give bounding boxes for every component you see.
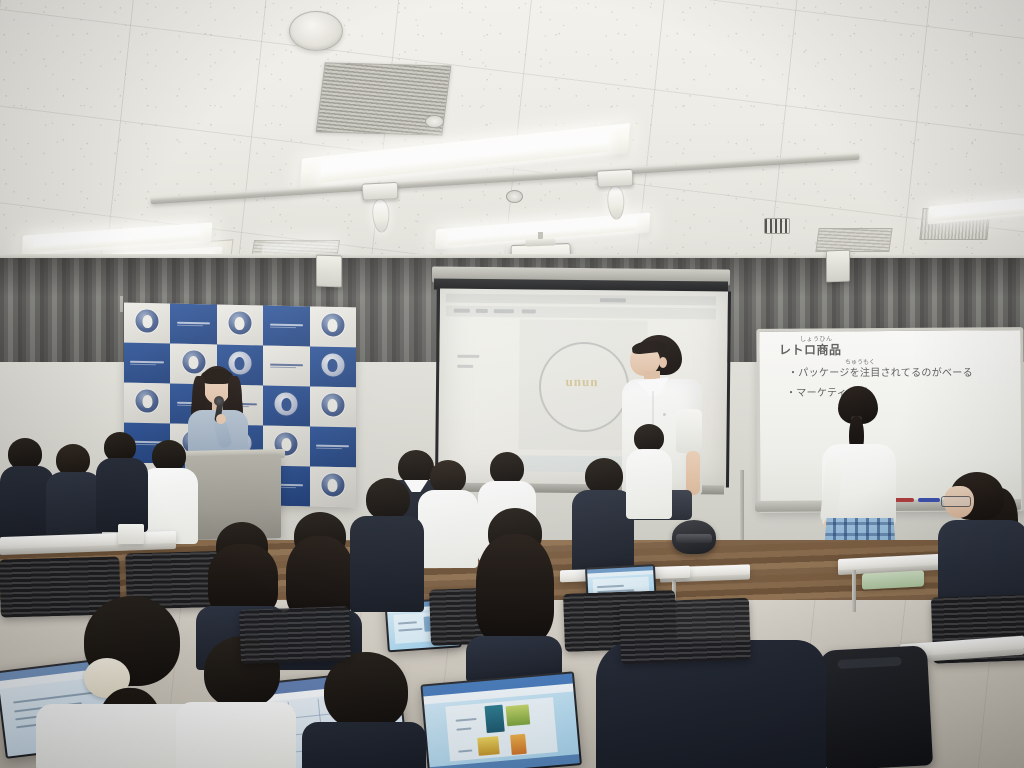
seated-student [350, 478, 424, 608]
banner-tile [124, 303, 170, 344]
wall-speaker-left [316, 255, 342, 288]
banner-tile [310, 386, 356, 427]
banner-tile [263, 345, 309, 386]
banner-tile [310, 426, 356, 467]
banner-tile [310, 346, 356, 387]
student-head [585, 458, 623, 494]
student-head [324, 652, 408, 730]
wall-speaker-right [826, 250, 850, 283]
seated-student [572, 458, 634, 568]
slide-toolbar-chip [522, 309, 536, 313]
seated-student [466, 508, 562, 668]
whiteboard-line-1: ・パッケージを注目されてるのがべーる [788, 364, 973, 379]
slide-logo-text: unun [539, 374, 625, 391]
standing-student-forearm [686, 451, 700, 495]
track-spotlight-2 [597, 169, 626, 220]
student-blazer [96, 458, 148, 532]
student-head [430, 460, 466, 494]
ceiling-speaker-icon [289, 11, 343, 51]
banner-tile [124, 343, 170, 384]
laptop [420, 672, 577, 768]
seated-student [626, 424, 672, 516]
foreground-student [302, 652, 426, 768]
classroom-photo: unun しょうひん レトロ商品 ちゅうもく ・パッケージを注目されてるのがべー… [0, 0, 1024, 768]
whiteboard-marker-blue [918, 498, 940, 502]
seated-student [140, 440, 198, 540]
student-hair [476, 534, 554, 644]
slide-toolbar-chip [476, 309, 488, 313]
student-shirt [626, 449, 672, 519]
slide-side-chip [457, 355, 479, 358]
student-head [634, 424, 664, 452]
banner-tile [310, 306, 356, 347]
laptop-screen-slide-editor [423, 673, 580, 768]
glasses-icon [941, 496, 971, 507]
standing-student-ear [659, 357, 667, 368]
banner-tile [170, 304, 216, 345]
slide-toolbar-chip [454, 309, 470, 313]
ceiling-sensor-plate [764, 218, 790, 234]
banner-pole [120, 296, 123, 312]
banner-tile [263, 385, 309, 426]
slide-photo-thumb [510, 734, 527, 755]
student-blazer [302, 722, 426, 768]
banner-tile [124, 383, 170, 424]
student-blazer [572, 490, 634, 572]
chair [239, 606, 351, 664]
air-vent-tertiary [815, 228, 892, 252]
tissue-box [118, 524, 144, 544]
banner-tile [263, 305, 309, 346]
standing-student-sleeve [676, 409, 702, 453]
slide-toolbar-chip [494, 309, 514, 313]
standing-student-pocket-button [663, 413, 666, 416]
presenter-hand [216, 414, 226, 424]
chair [619, 598, 751, 664]
banner-tile [217, 305, 263, 346]
green-tray [862, 570, 924, 589]
student-shirt [176, 702, 296, 768]
student-blazer [350, 516, 424, 612]
whiteboard-title: レトロ商品 [779, 341, 842, 358]
seated-student [46, 444, 102, 542]
slide-browser-bar [446, 294, 716, 306]
slide-side-chip [457, 365, 473, 368]
slide-title-chip [600, 298, 626, 302]
slide-photo-thumb [477, 736, 499, 756]
smoke-detector-icon [425, 115, 444, 128]
seated-student [96, 432, 148, 528]
smoke-detector-icon-2 [506, 190, 523, 203]
track-spotlight-1 [362, 182, 391, 233]
backpack [819, 645, 933, 768]
desk-leg [852, 570, 856, 612]
student-head [366, 478, 410, 520]
slide-photo-thumb [506, 704, 530, 726]
microphone-head-icon [214, 396, 224, 406]
helmet-visor [676, 534, 712, 543]
slide-photo-thumb [484, 705, 504, 733]
